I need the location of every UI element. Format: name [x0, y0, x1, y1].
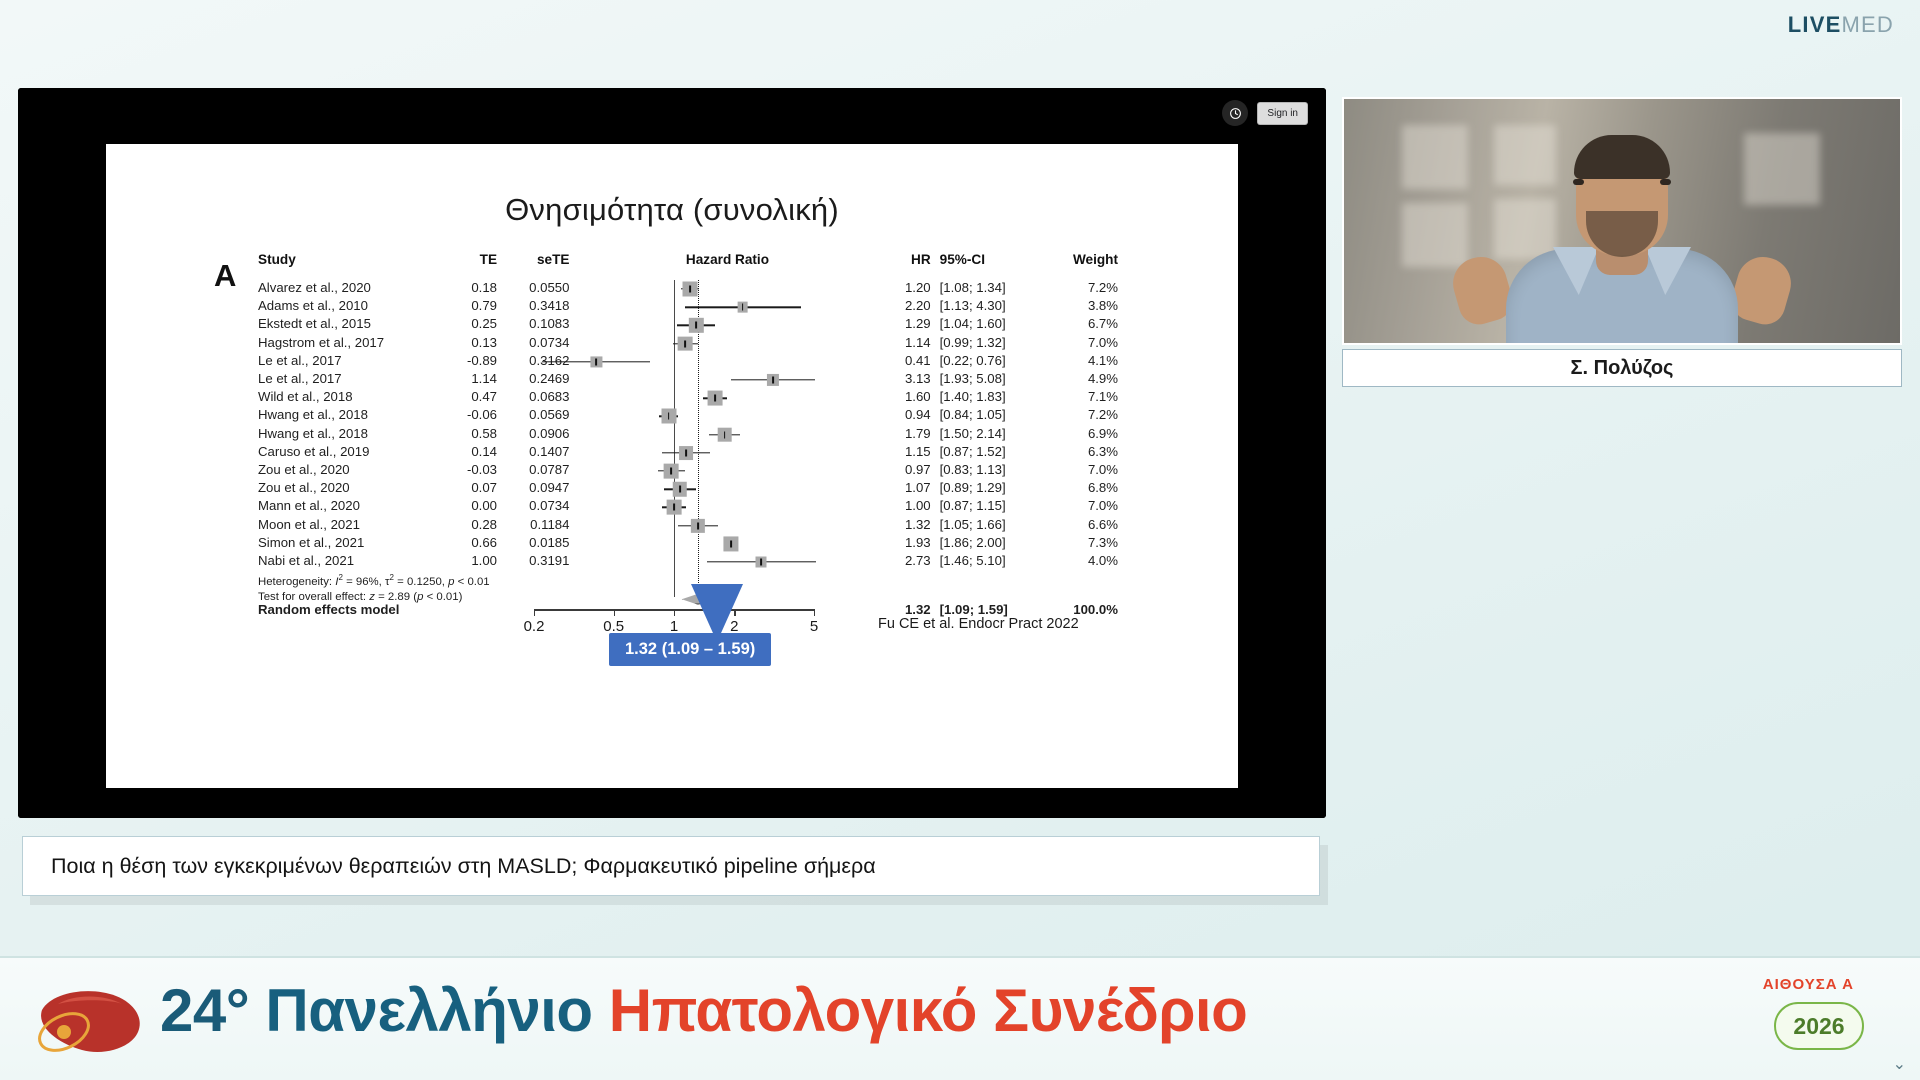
- row-sete: 0.0787: [504, 461, 569, 479]
- speaker-name-plate: Σ. Πολύζος: [1342, 349, 1902, 387]
- slide-title: Θνησιμότητα (συνολική): [106, 192, 1238, 228]
- forest-plot-body: Alvarez et al., 20200.180.05501.20[1.08;…: [258, 279, 1118, 619]
- row-study: Wild et al., 2018: [258, 388, 452, 406]
- row-ci: [1.04; 1.60]: [940, 315, 1048, 333]
- row-sete: 0.0947: [504, 479, 569, 497]
- row-ci: [1.40; 1.83]: [940, 388, 1048, 406]
- row-hr: 1.07: [885, 479, 939, 497]
- row-weight: 7.0%: [1048, 497, 1118, 515]
- citation-source: Fu CE et al. Endocr Pract 2022: [878, 616, 1079, 632]
- row-study: Caruso et al., 2019: [258, 443, 452, 461]
- row-study: Adams et al., 2010: [258, 297, 452, 315]
- row-plot-cell: [569, 279, 885, 297]
- row-hr: 0.41: [885, 352, 939, 370]
- heterogeneity-label: Heterogeneity:: [258, 576, 332, 588]
- row-ci: [0.22; 0.76]: [940, 352, 1048, 370]
- table-row: Nabi et al., 20211.000.31912.73[1.46; 5.…: [258, 552, 1118, 570]
- row-te: -0.89: [452, 352, 504, 370]
- table-row: Moon et al., 20210.280.11841.32[1.05; 1.…: [258, 516, 1118, 534]
- row-ci: [1.05; 1.66]: [940, 516, 1048, 534]
- row-weight: 7.3%: [1048, 534, 1118, 552]
- row-plot-cell: [569, 516, 885, 534]
- row-hr: 1.32: [885, 516, 939, 534]
- row-ci: [1.86; 2.00]: [940, 534, 1048, 552]
- p-symbol-2: p: [417, 591, 423, 603]
- row-ci: [0.99; 1.32]: [940, 334, 1048, 352]
- row-weight: 7.1%: [1048, 388, 1118, 406]
- row-te: -0.03: [452, 461, 504, 479]
- table-row: Hwang et al., 2018-0.060.05690.94[0.84; …: [258, 406, 1118, 424]
- row-hr: 2.20: [885, 297, 939, 315]
- row-study: Le et al., 2017: [258, 352, 452, 370]
- row-study: Zou et al., 2020: [258, 461, 452, 479]
- i-squared-value: = 96%,: [346, 576, 382, 588]
- row-ci: [1.08; 1.34]: [940, 279, 1048, 297]
- table-row: Alvarez et al., 20200.180.05501.20[1.08;…: [258, 279, 1118, 297]
- row-te: 0.28: [452, 516, 504, 534]
- eye-left: [1573, 179, 1584, 185]
- row-study: Zou et al., 2020: [258, 479, 452, 497]
- row-ci: [1.50; 2.14]: [940, 425, 1048, 443]
- livemed-logo: LIVEMED: [1788, 12, 1894, 38]
- row-plot-cell: [569, 497, 885, 515]
- player-overlay-controls: Sign in: [1222, 100, 1308, 126]
- col-header-te: TE: [452, 252, 504, 279]
- sign-in-button[interactable]: Sign in: [1257, 102, 1308, 125]
- row-ci: [0.83; 1.13]: [940, 461, 1048, 479]
- row-ci: [1.93; 5.08]: [940, 370, 1048, 388]
- eye-right: [1660, 179, 1671, 185]
- row-ci: [0.84; 1.05]: [940, 406, 1048, 424]
- row-hr: 1.15: [885, 443, 939, 461]
- x-axis-tick-label: 0.2: [524, 618, 545, 635]
- congress-word-1: Πανελλήνιο: [265, 977, 592, 1044]
- z-value: = 2.89 (: [378, 591, 417, 603]
- row-te: 0.14: [452, 443, 504, 461]
- row-hr: 1.60: [885, 388, 939, 406]
- row-te: 0.18: [452, 279, 504, 297]
- row-plot-cell: [569, 479, 885, 497]
- row-plot-cell: [569, 425, 885, 443]
- row-study: Hwang et al., 2018: [258, 406, 452, 424]
- watch-later-icon[interactable]: [1222, 100, 1248, 126]
- row-te: 1.14: [452, 370, 504, 388]
- row-hr: 1.29: [885, 315, 939, 333]
- row-weight: 7.0%: [1048, 461, 1118, 479]
- row-weight: 6.9%: [1048, 425, 1118, 443]
- row-study: Hagstrom et al., 2017: [258, 334, 452, 352]
- row-weight: 6.6%: [1048, 516, 1118, 534]
- row-sete: 0.3191: [504, 552, 569, 570]
- row-weight: 7.0%: [1048, 334, 1118, 352]
- row-hr: 1.20: [885, 279, 939, 297]
- row-hr: 1.79: [885, 425, 939, 443]
- session-title: Ποια η θέση των εγκεκριμένων θεραπειών σ…: [51, 854, 876, 879]
- row-ci: [0.87; 1.52]: [940, 443, 1048, 461]
- row-plot-cell: [569, 443, 885, 461]
- row-plot-cell: [569, 352, 885, 370]
- congress-word-2: Ηπατολογικό Συνέδριο: [609, 977, 1248, 1044]
- row-sete: 0.1407: [504, 443, 569, 461]
- row-study: Moon et al., 2021: [258, 516, 452, 534]
- row-study: Nabi et al., 2021: [258, 552, 452, 570]
- hall-label: ΑΙΘΟΥΣΑ Α: [1763, 976, 1854, 993]
- row-te: 0.00: [452, 497, 504, 515]
- row-plot-cell: [569, 370, 885, 388]
- hair: [1574, 135, 1670, 179]
- letterbox-bottom: [18, 788, 1326, 818]
- row-study: Simon et al., 2021: [258, 534, 452, 552]
- row-weight: 6.7%: [1048, 315, 1118, 333]
- row-sete: 0.2469: [504, 370, 569, 388]
- panel-letter: A: [214, 260, 236, 291]
- row-hr: 3.13: [885, 370, 939, 388]
- table-row: Adams et al., 20100.790.34182.20[1.13; 4…: [258, 297, 1118, 315]
- table-row: Le et al., 20171.140.24693.13[1.93; 5.08…: [258, 370, 1118, 388]
- row-sete: 0.0550: [504, 279, 569, 297]
- bg-window-1: [1402, 125, 1468, 189]
- year-badge: 2026: [1774, 1002, 1864, 1050]
- row-sete: 0.1184: [504, 516, 569, 534]
- row-study: Hwang et al., 2018: [258, 425, 452, 443]
- slide-video-player[interactable]: Sign in Θνησιμότητα (συνολική) A Study T…: [18, 88, 1326, 818]
- row-weight: 6.3%: [1048, 443, 1118, 461]
- z-symbol: z: [369, 591, 375, 603]
- table-header-row: Study TE seTE Hazard Ratio HR 95%-CI Wei…: [258, 252, 1118, 279]
- p-symbol: p: [448, 576, 454, 588]
- heterogeneity-stats: Heterogeneity: I2 = 96%, τ2 = 0.1250, p …: [258, 570, 490, 605]
- row-sete: 0.1083: [504, 315, 569, 333]
- x-axis-tick-label: 5: [810, 618, 818, 635]
- heterogeneity-line: Heterogeneity: I2 = 96%, τ2 = 0.1250, p …: [258, 570, 490, 590]
- row-plot-cell: [569, 297, 885, 315]
- row-plot-cell: [569, 552, 885, 570]
- row-sete: 0.0734: [504, 334, 569, 352]
- row-te: 0.58: [452, 425, 504, 443]
- row-ci: [0.87; 1.15]: [940, 497, 1048, 515]
- top-bar: LIVEMED: [0, 0, 1920, 48]
- row-ci: [1.13; 4.30]: [940, 297, 1048, 315]
- row-plot-cell: [569, 334, 885, 352]
- row-hr: 1.00: [885, 497, 939, 515]
- row-sete: 0.0906: [504, 425, 569, 443]
- col-header-ci: 95%-CI: [940, 252, 1048, 279]
- congress-degree: °: [226, 977, 250, 1044]
- row-te: 0.13: [452, 334, 504, 352]
- row-weight: 4.9%: [1048, 370, 1118, 388]
- col-header-hr: HR: [885, 252, 939, 279]
- table-row: Simon et al., 20210.660.01851.93[1.86; 2…: [258, 534, 1118, 552]
- chevron-down-icon[interactable]: ⌄: [1893, 1054, 1906, 1074]
- brand-part-1: LIVE: [1788, 12, 1842, 37]
- row-sete: 0.3162: [504, 352, 569, 370]
- row-hr: 1.93: [885, 534, 939, 552]
- row-plot-cell: [569, 461, 885, 479]
- table-row: Caruso et al., 20190.140.14071.15[0.87; …: [258, 443, 1118, 461]
- session-title-bar: Ποια η θέση των εγκεκριμένων θεραπειών σ…: [22, 836, 1320, 896]
- row-study: Le et al., 2017: [258, 370, 452, 388]
- col-header-study: Study: [258, 252, 452, 279]
- table-row: Mann et al., 20200.000.07341.00[0.87; 1.…: [258, 497, 1118, 515]
- table-row: Hwang et al., 20180.580.09061.79[1.50; 2…: [258, 425, 1118, 443]
- table-row: Zou et al., 20200.070.09471.07[0.89; 1.2…: [258, 479, 1118, 497]
- row-study: Mann et al., 2020: [258, 497, 452, 515]
- tau-exp: 2: [390, 573, 394, 582]
- tau-value: = 0.1250,: [397, 576, 445, 588]
- row-te: 0.47: [452, 388, 504, 406]
- col-header-hazard-ratio: Hazard Ratio: [569, 252, 885, 279]
- row-weight: 4.0%: [1048, 552, 1118, 570]
- speaker-figure: [1497, 142, 1747, 345]
- forest-plot-table: Study TE seTE Hazard Ratio HR 95%-CI Wei…: [258, 252, 1118, 619]
- overall-effect-label: Test for overall effect:: [258, 591, 366, 603]
- brand-part-2: MED: [1842, 12, 1895, 37]
- table-row: Ekstedt et al., 20150.250.10831.29[1.04;…: [258, 315, 1118, 333]
- forest-plot: A Study TE seTE Hazard Ratio HR 95%-CI W…: [258, 252, 1118, 632]
- congress-title: 24° Πανελλήνιο Ηπατολογικό Συνέδριο: [160, 976, 1247, 1045]
- row-sete: 0.0185: [504, 534, 569, 552]
- table-row: Hagstrom et al., 20170.130.07341.14[0.99…: [258, 334, 1118, 352]
- col-header-weight: Weight: [1048, 252, 1118, 279]
- speaker-name: Σ. Πολύζος: [1571, 357, 1674, 380]
- table-row: Le et al., 2017-0.890.31620.41[0.22; 0.7…: [258, 352, 1118, 370]
- congress-number: 24: [160, 977, 226, 1044]
- summary-sete: [504, 586, 569, 619]
- row-study: Alvarez et al., 2020: [258, 279, 452, 297]
- row-te: -0.06: [452, 406, 504, 424]
- bg-window-2: [1402, 203, 1468, 267]
- row-hr: 0.97: [885, 461, 939, 479]
- table-row: Zou et al., 2020-0.030.07870.97[0.83; 1.…: [258, 461, 1118, 479]
- row-plot-cell: [569, 388, 885, 406]
- speaker-video[interactable]: [1342, 97, 1902, 345]
- table-row: Wild et al., 20180.470.06831.60[1.40; 1.…: [258, 388, 1118, 406]
- letterbox-top: [18, 88, 1326, 144]
- p-value-2: < 0.01): [427, 591, 463, 603]
- row-sete: 0.3418: [504, 297, 569, 315]
- summary-weight: 100.0%: [1048, 586, 1118, 619]
- row-weight: 6.8%: [1048, 479, 1118, 497]
- col-header-sete: seTE: [504, 252, 569, 279]
- row-weight: 7.2%: [1048, 406, 1118, 424]
- row-plot-cell: [569, 406, 885, 424]
- row-te: 0.07: [452, 479, 504, 497]
- row-weight: 7.2%: [1048, 279, 1118, 297]
- summary-ci: [1.09; 1.59]: [940, 586, 1048, 619]
- row-hr: 0.94: [885, 406, 939, 424]
- row-te: 1.00: [452, 552, 504, 570]
- row-sete: 0.0734: [504, 497, 569, 515]
- congress-banner: 24° Πανελλήνιο Ηπατολογικό Συνέδριο ΑΙΘΟ…: [0, 956, 1920, 1080]
- row-sete: 0.0569: [504, 406, 569, 424]
- row-ci: [1.46; 5.10]: [940, 552, 1048, 570]
- i-squared-exp: 2: [338, 573, 342, 582]
- row-plot-cell: [569, 315, 885, 333]
- row-ci: [0.89; 1.29]: [940, 479, 1048, 497]
- pooled-estimate-callout: 1.32 (1.09 – 1.59): [609, 633, 771, 666]
- row-study: Ekstedt et al., 2015: [258, 315, 452, 333]
- row-sete: 0.0683: [504, 388, 569, 406]
- row-plot-cell: [569, 534, 885, 552]
- slide-canvas: Θνησιμότητα (συνολική) A Study TE seTE H…: [106, 144, 1238, 788]
- overall-effect-line: Test for overall effect: z = 2.89 (p < 0…: [258, 590, 490, 605]
- p-value: < 0.01: [458, 576, 490, 588]
- row-hr: 1.14: [885, 334, 939, 352]
- bg-window-5: [1744, 133, 1820, 205]
- row-te: 0.66: [452, 534, 504, 552]
- row-weight: 4.1%: [1048, 352, 1118, 370]
- row-te: 0.25: [452, 315, 504, 333]
- row-hr: 2.73: [885, 552, 939, 570]
- row-te: 0.79: [452, 297, 504, 315]
- row-weight: 3.8%: [1048, 297, 1118, 315]
- summary-hr: 1.32: [885, 586, 939, 619]
- liver-icon: [34, 980, 150, 1064]
